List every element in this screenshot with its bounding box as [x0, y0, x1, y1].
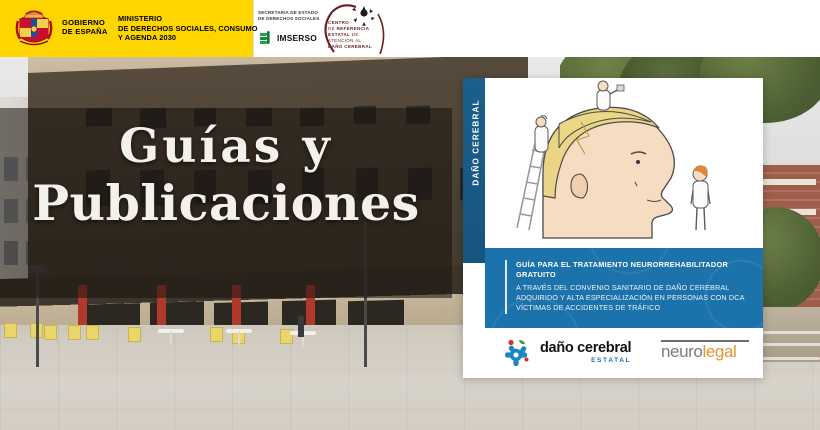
page-title: Guías y Publicaciones — [0, 118, 452, 232]
head-profile-illustration-icon — [485, 78, 763, 248]
card-headline: GUÍA PARA EL TRATAMIENTO NEURORREHABILIT… — [516, 260, 751, 280]
dano-cerebral-subtitle: ESTATAL — [540, 358, 631, 365]
card-spine: DAÑO CEREBRAL — [463, 78, 485, 263]
page-title-line2: Publicaciones — [0, 175, 452, 232]
card-spine-label: DAÑO CEREBRAL — [472, 78, 481, 208]
ministry-label: MINISTERIO DE DERECHOS SOCIALES, CONSUMO… — [118, 14, 258, 43]
dano-cerebral-logo: daño cerebral ESTATAL — [501, 338, 631, 368]
card-subtext: A TRAVÉS DEL CONVENIO SANITARIO DE DAÑO … — [516, 283, 751, 314]
dano-cerebral-symbol-icon — [501, 338, 535, 368]
imserso-symbol-icon — [258, 30, 273, 46]
publication-card[interactable]: DAÑO CEREBRAL — [463, 78, 763, 378]
government-label: GOBIERNO DE ESPAÑA — [62, 18, 108, 37]
worker-on-head-icon — [597, 81, 624, 110]
neurolegal-logo: neurolegal — [661, 340, 749, 361]
standing-person-icon — [691, 165, 710, 230]
card-text-band: GUÍA PARA EL TRATAMIENTO NEURORREHABILIT… — [485, 248, 763, 328]
page-title-line1: Guías y — [0, 118, 452, 175]
imserso-logo: IMSERSO — [258, 30, 317, 46]
imserso-label: IMSERSO — [277, 33, 317, 43]
worker-on-ladder-icon — [535, 116, 548, 152]
spain-coat-of-arms-icon — [12, 7, 56, 50]
neurolegal-wordmark: neurolegal — [661, 343, 749, 361]
card-logos: daño cerebral ESTATAL neurolegal — [485, 328, 763, 378]
institutional-header: GOBIERNO DE ESPAÑA MINISTERIO DE DERECHO… — [0, 0, 820, 57]
ceadac-logo: CENTRO DE REFERENCIA ESTATAL DE ATENCIÓN… — [320, 4, 390, 56]
secretariat-label: SECRETARÍA DE ESTADO DE DERECHOS SOCIALE… — [258, 10, 319, 22]
card-illustration — [485, 78, 763, 248]
ceadac-wordmark: CENTRO DE REFERENCIA ESTATAL DE ATENCIÓN… — [328, 20, 372, 50]
dano-cerebral-wordmark: daño cerebral — [540, 341, 631, 356]
